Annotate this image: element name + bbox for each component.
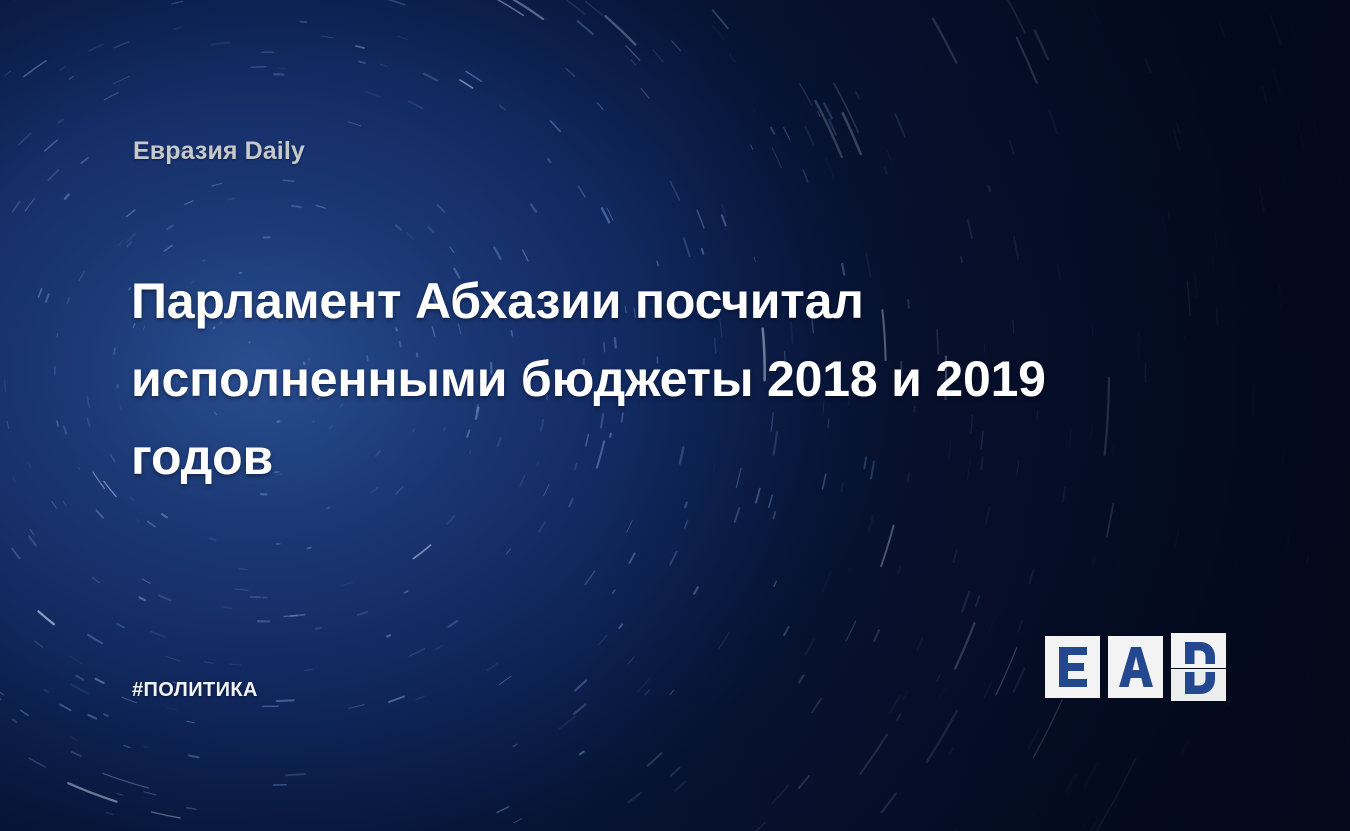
logo-tile-e <box>1045 636 1100 698</box>
logo-tile-d-top <box>1171 633 1226 668</box>
logo-tile-a <box>1108 636 1163 698</box>
logo-tile-d-bot <box>1171 669 1226 701</box>
brand-title: Евразия Daily <box>133 137 305 166</box>
category-tag[interactable]: #ПОЛИТИКА <box>132 679 258 702</box>
article-cover-card: Евразия Daily Парламент Абхазии посчитал… <box>0 0 1350 831</box>
page-title: Парламент Абхазии посчитал исполненными … <box>131 262 1191 496</box>
ead-logo[interactable] <box>1045 633 1225 701</box>
